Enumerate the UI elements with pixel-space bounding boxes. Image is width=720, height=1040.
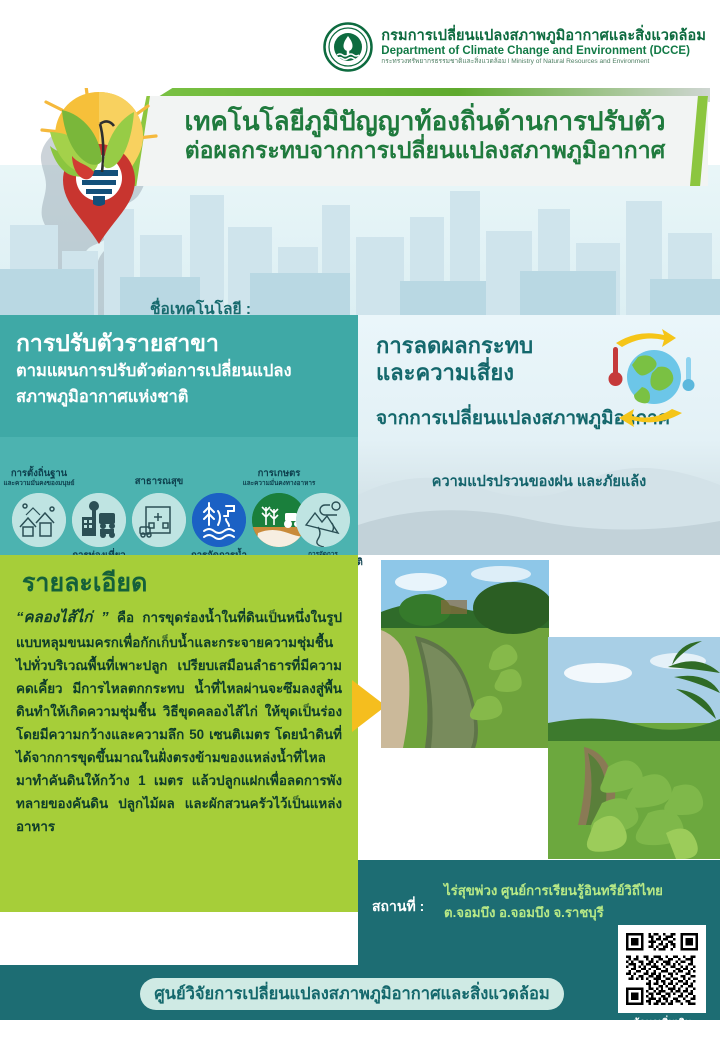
settlement-icon	[12, 493, 66, 547]
research-center-pill: ศูนย์วิจัยการเปลี่ยนแปลงสภาพภูมิอากาศและ…	[140, 978, 564, 1010]
sector-caption-settlement: การตั้งถิ่นฐาน และความมั่นคงของมนุษย์	[4, 469, 75, 487]
photo-planted-field	[548, 637, 720, 859]
organization-logo: กรมการเปลี่ยนแปลงสภาพภูมิอากาศและสิ่งแวด…	[323, 22, 706, 72]
detail-title: รายละเอียด	[22, 563, 147, 603]
poster-root: กรมการเปลี่ยนแปลงสภาพภูมิอากาศและสิ่งแวด…	[0, 0, 720, 1040]
sector-item-settlement[interactable]: การตั้งถิ่นฐาน และความมั่นคงของมนุษย์	[12, 493, 66, 547]
qr-code-container[interactable]	[618, 925, 706, 1013]
place-label: สถานที่ :	[372, 896, 424, 918]
ministry-name: กระทรวงทรัพยากรธรรมชาติและสิ่งแวดล้อม l …	[381, 58, 706, 65]
adaptation-heading-block: การปรับตัวรายสาขา ตามแผนการปรับตัวต่อการ…	[16, 329, 348, 410]
public-health-icon	[132, 493, 186, 547]
main-title-plate: เทคโนโลยีภูมิปัญญาท้องถิ่นด้านการปรับตัว…	[128, 96, 708, 186]
detail-panel: รายละเอียด “คลองไส้ไก่ ” คือ การขุดร่องน…	[0, 555, 358, 912]
dcce-emblem-icon	[323, 22, 373, 72]
org-name-th: กรมการเปลี่ยนแปลงสภาพภูมิอากาศและสิ่งแวด…	[381, 29, 706, 45]
mitigation-heading-2: และความเสี่ยง	[376, 360, 533, 387]
research-center-name: ศูนย์วิจัยการเปลี่ยนแปลงสภาพภูมิอากาศและ…	[154, 981, 550, 1007]
detail-body-text: คือ การขุดร่องน้ำในที่ดินเป็นหนึ่งในรูปแ…	[16, 610, 342, 834]
adaptation-heading: การปรับตัวรายสาขา	[16, 329, 348, 358]
title-line-1: เทคโนโลยีภูมิปัญญาท้องถิ่นด้านการปรับตัว	[168, 106, 682, 137]
globe-thermometer-icon	[592, 327, 702, 432]
adaptation-subheading-1: ตามแผนการปรับตัวต่อการเปลี่ยนแปลง	[16, 360, 348, 384]
mitigation-heading-1: การลดผลกระทบ	[376, 333, 533, 360]
title-line-2: ต่อผลกระทบจากการเปลี่ยนแปลงสภาพภูมิอากาศ	[168, 137, 682, 164]
place-line-2: ต.จอมบึง อ.จอมบึง จ.ราชบุรี	[444, 902, 712, 924]
adaptation-panel: การปรับตัวรายสาขา ตามแผนการปรับตัวต่อการ…	[0, 315, 358, 555]
bottom-white-strip	[0, 1020, 720, 1040]
detail-keyword: “คลองไส้ไก่ ”	[16, 609, 109, 626]
org-name-en: Department of Climate Change and Environ…	[381, 45, 706, 57]
technology-label: ชื่อเทคโนโลยี :	[150, 296, 251, 315]
detail-body: “คลองไส้ไก่ ” คือ การขุดร่องน้ำในที่ดินเ…	[16, 605, 342, 838]
sector-item-natural-resources[interactable]: การจัดการ ทรัพยากรธรรมชาติ	[296, 493, 350, 547]
organization-names: กรมการเปลี่ยนแปลงสภาพภูมิอากาศและสิ่งแวด…	[381, 29, 706, 65]
mitigation-panel: การลดผลกระทบ และความเสี่ยง จากการเปลี่ยน…	[358, 315, 720, 555]
climate-risk-text: ความแปรปรวนของฝน และภัยแล้ง	[358, 470, 720, 493]
sector-caption-public-health: สาธารณสุข	[135, 477, 183, 487]
thermometer-cold-icon	[683, 357, 695, 391]
hills-background-icon	[358, 435, 720, 555]
title-edge-right	[690, 96, 708, 186]
qr-code-icon	[626, 933, 698, 1005]
adaptation-subheading-2: สภาพภูมิอากาศแห่งชาติ	[16, 386, 348, 410]
main-title: เทคโนโลยีภูมิปัญญาท้องถิ่นด้านการปรับตัว…	[168, 106, 682, 164]
sector-item-tourism[interactable]: การท่องเที่ยว	[72, 493, 126, 547]
photo-water-channel	[381, 560, 549, 748]
water-management-icon	[192, 493, 246, 547]
place-text: ไร่สุขพ่วง ศูนย์การเรียนรู้อินทรีย์วิถีไ…	[444, 880, 712, 925]
header-band: กรมการเปลี่ยนแปลงสภาพภูมิอากาศและสิ่งแวด…	[0, 0, 720, 88]
sector-item-water-management[interactable]: การจัดการน้ำ	[192, 493, 246, 547]
mitigation-heading: การลดผลกระทบ และความเสี่ยง	[376, 333, 533, 387]
sector-caption-agriculture: การเกษตร และความมั่นคงทางอาหาร	[243, 469, 316, 487]
place-line-1: ไร่สุขพ่วง ศูนย์การเรียนรู้อินทรีย์วิถีไ…	[444, 880, 712, 902]
thermometer-hot-icon	[609, 347, 623, 386]
hero-section: เทคโนโลยีภูมิปัญญาท้องถิ่นด้านการปรับตัว…	[0, 88, 720, 315]
sector-icon-row: การตั้งถิ่นฐาน และความมั่นคงของมนุษย์	[0, 437, 358, 555]
lightbulb-leaf-pin-icon	[24, 88, 174, 274]
natural-resources-icon	[296, 493, 350, 547]
sector-item-public-health[interactable]: สาธารณสุข	[132, 493, 186, 547]
tourism-icon	[72, 493, 126, 547]
